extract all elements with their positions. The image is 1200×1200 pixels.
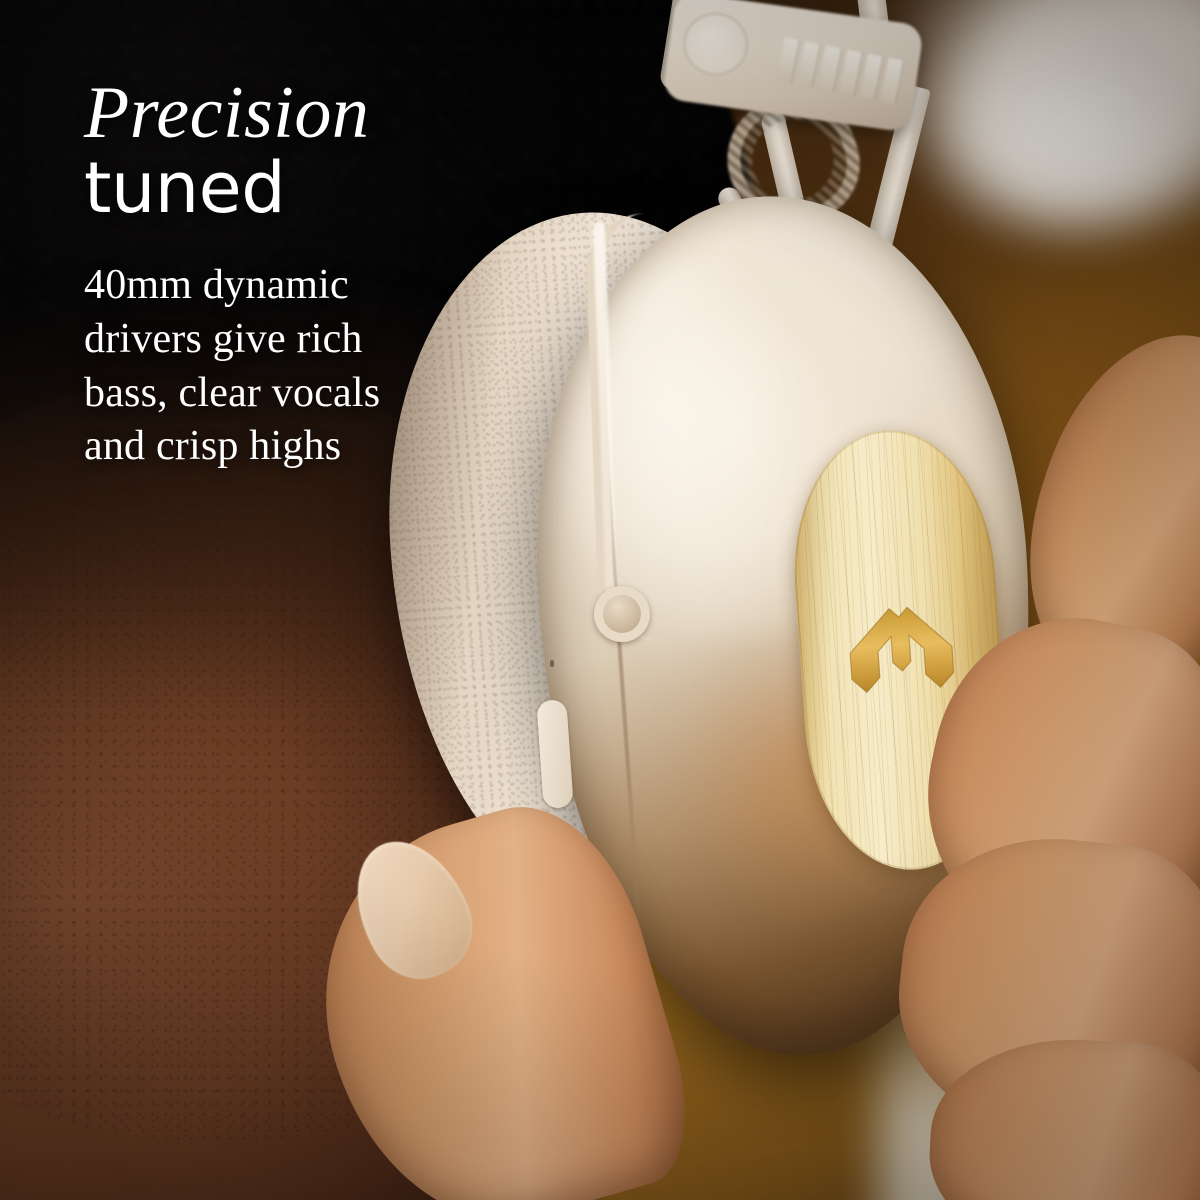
headline-line-2: tuned <box>84 151 554 225</box>
window-light-highlight <box>905 0 1200 260</box>
body-copy-line-1: 40mm dynamic <box>84 259 554 313</box>
hinge-pivot <box>594 586 650 642</box>
slider-notch-marks <box>776 37 904 103</box>
microphone-hole <box>550 660 554 667</box>
headline-line-1: Precision <box>84 78 554 149</box>
slider-end-cap <box>680 9 752 79</box>
body-copy: 40mm dynamic drivers give rich bass, cle… <box>84 259 554 474</box>
body-copy-line-3: bass, clear vocals <box>84 367 554 421</box>
product-lifestyle-image: Precision tuned 40mm dynamic drivers giv… <box>0 0 1200 1200</box>
house-of-marley-chevron-logo <box>845 602 957 701</box>
body-copy-line-4: and crisp highs <box>84 420 554 474</box>
marketing-copy-block: Precision tuned 40mm dynamic drivers giv… <box>84 78 554 474</box>
body-copy-line-2: drivers give rich <box>84 313 554 367</box>
